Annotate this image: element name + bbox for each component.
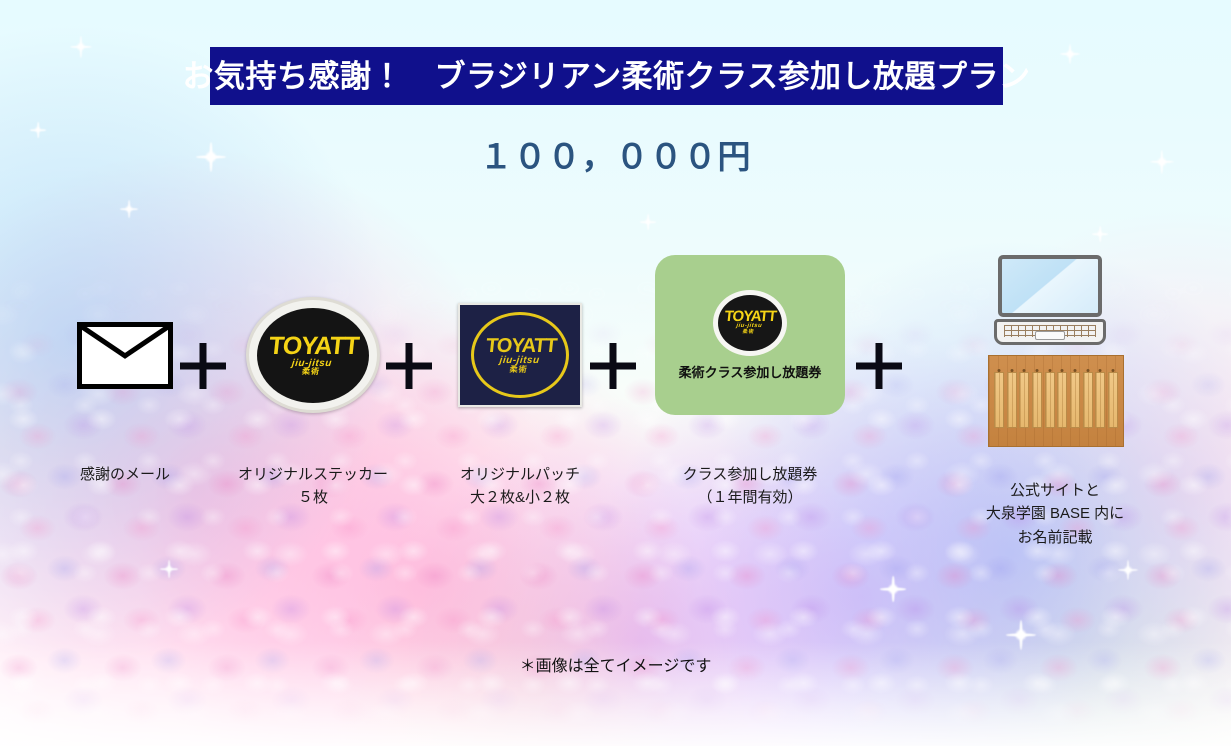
sparkle-icon	[1060, 44, 1080, 64]
logo-kanji-text: 柔術	[483, 365, 554, 373]
laptop-screen	[998, 255, 1102, 317]
caption-line: ５枚	[208, 486, 418, 509]
reward-item-class-pass-voucher: TOYATT jiu-jitsu 柔術 柔術クラス参加し放題券 クラス参加し放題…	[630, 255, 870, 510]
sparkle-icon	[880, 576, 906, 602]
toyatt-logo: TOYATT jiu-jitsu 柔術	[483, 337, 557, 373]
image-disclaimer-note: ＊画像は全てイメージです	[0, 652, 1231, 676]
sparkle-icon	[160, 560, 178, 578]
logo-kanji-text: 柔術	[723, 330, 775, 335]
logo-main-text: TOYATT	[485, 337, 557, 356]
name-tag	[1007, 372, 1017, 428]
name-tag	[1083, 372, 1093, 428]
page-title: お気持ち感謝！ ブラジリアン柔術クラス参加し放題プラン	[182, 61, 1030, 92]
name-tag	[1095, 372, 1105, 428]
reward-item-caption: 公式サイトと 大泉学園 BASE 内に お名前記載	[910, 479, 1200, 549]
name-tag	[1032, 372, 1042, 428]
laptop-and-nameboard-icon	[980, 255, 1130, 445]
caption-line: クラス参加し放題券	[630, 463, 870, 486]
reward-item-caption: オリジナルパッチ 大２枚&小２枚	[420, 463, 620, 510]
reward-items-row: 感謝のメール TOYATT jiu-jitsu 柔術 オリジナルステ	[0, 255, 1231, 555]
caption-line: オリジナルパッチ	[420, 463, 620, 486]
sparkle-icon	[70, 36, 92, 58]
reward-item-caption: クラス参加し放題券 （１年間有効）	[630, 463, 870, 510]
plus-separator-icon	[856, 343, 902, 389]
caption-line: 大２枚&小２枚	[420, 486, 620, 509]
logo-main-text: TOYATT	[268, 335, 360, 359]
caption-line: （１年間有効）	[630, 486, 870, 509]
round-sticker-icon: TOYATT jiu-jitsu 柔術	[246, 297, 380, 413]
name-tag	[1070, 372, 1080, 428]
sparkle-icon	[640, 214, 656, 230]
caption-line: オリジナルステッカー	[208, 463, 418, 486]
plan-price: １００，０００円	[0, 130, 1231, 178]
reward-item-caption: オリジナルステッカー ５枚	[208, 463, 418, 510]
reward-item-name-on-site: 公式サイトと 大泉学園 BASE 内に お名前記載	[910, 255, 1200, 549]
logo-kanji-text: 柔術	[266, 368, 356, 376]
voucher-card-text: 柔術クラス参加し放題券	[679, 362, 822, 381]
caption-line: 公式サイトと	[910, 479, 1200, 502]
envelope-icon	[77, 322, 173, 389]
laptop-base	[994, 319, 1106, 345]
name-tag	[994, 372, 1004, 428]
name-tag	[1019, 372, 1029, 428]
name-tag	[1045, 372, 1055, 428]
toyatt-logo: TOYATT jiu-jitsu 柔術	[266, 335, 360, 376]
name-tag	[1108, 372, 1118, 428]
toyatt-logo: TOYATT jiu-jitsu 柔術	[723, 310, 777, 335]
voucher-art: TOYATT jiu-jitsu 柔術 柔術クラス参加し放題券	[630, 255, 870, 455]
reward-plan-poster: お気持ち感謝！ ブラジリアン柔術クラス参加し放題プラン １００，０００円 感謝の…	[0, 0, 1231, 746]
sparkle-icon	[120, 200, 138, 218]
laptop-icon	[994, 255, 1106, 345]
caption-line: 感謝のメール	[30, 463, 220, 486]
plan-title-banner: お気持ち感謝！ ブラジリアン柔術クラス参加し放題プラン	[210, 47, 1003, 105]
site-and-board-art	[910, 255, 1200, 455]
wooden-name-board	[988, 355, 1124, 447]
sparkle-icon	[1006, 620, 1036, 650]
caption-line: 大泉学園 BASE 内に	[910, 502, 1200, 525]
sparkle-icon	[1092, 226, 1108, 242]
reward-item-caption: 感謝のメール	[30, 463, 220, 486]
embroidered-patch-icon: TOYATT jiu-jitsu 柔術	[458, 303, 582, 407]
green-voucher-card-icon: TOYATT jiu-jitsu 柔術 柔術クラス参加し放題券	[655, 255, 845, 415]
sparkle-icon	[1118, 560, 1138, 580]
name-tag	[1057, 372, 1067, 428]
caption-line: お名前記載	[910, 526, 1200, 549]
